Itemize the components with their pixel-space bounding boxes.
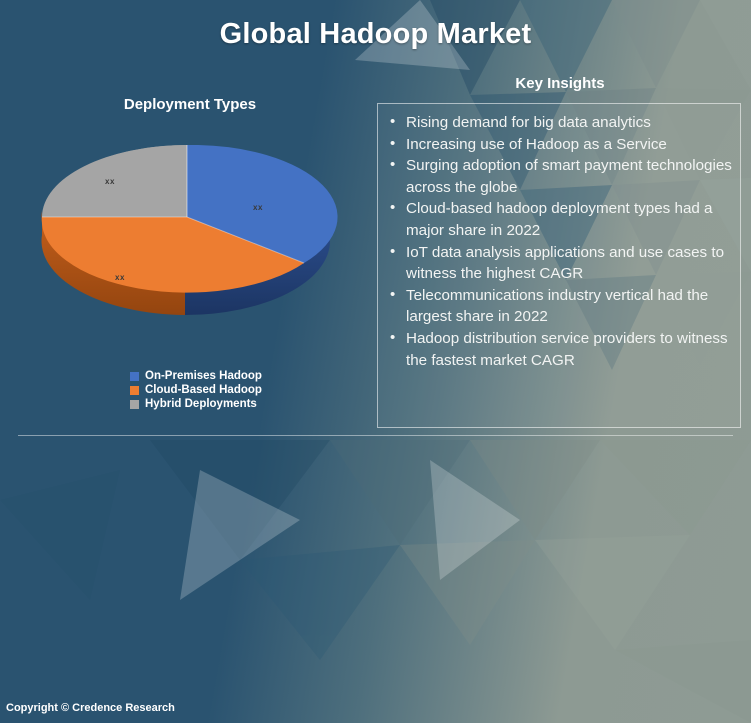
legend-label-hybrid: Hybrid Deployments [145,398,257,410]
key-insight-item: Increasing use of Hadoop as a Service [388,134,732,156]
legend-item-on-premises[interactable]: On-Premises Hadoop [130,370,350,382]
key-insight-item: Surging adoption of smart payment techno… [388,155,732,198]
infographic-canvas: Global Hadoop Market Deployment Types [0,0,751,723]
key-insight-item: Cloud-based hadoop deployment types had … [388,198,732,241]
page-title: Global Hadoop Market [0,18,751,51]
bar-chart: MARKET SIZE USD MN xxxxxxxx36518.5xxxxxx… [0,440,751,723]
legend-item-cloud-based[interactable]: Cloud-Based Hadoop [130,384,350,396]
legend-swatch-icon-on-premises [130,372,139,381]
pie-slice-label-hybrid: xx [105,177,115,186]
key-insight-item: Hadoop distribution service providers to… [388,328,732,371]
key-insights-title: Key Insights [380,75,740,92]
legend-swatch-icon-hybrid [130,400,139,409]
legend-label-cloud-based: Cloud-Based Hadoop [145,384,262,396]
key-insight-item: Telecommunications industry vertical had… [388,285,732,328]
pie-chart-title: Deployment Types [40,96,340,113]
pie-legend: On-Premises Hadoop Cloud-Based Hadoop Hy… [130,370,350,412]
legend-label-on-premises: On-Premises Hadoop [145,370,262,382]
pie-slice-label-on-premises: xx [253,203,263,212]
section-divider [18,435,733,436]
key-insight-item: IoT data analysis applications and use c… [388,242,732,285]
key-insights-panel: Rising demand for big data analytics Inc… [377,103,741,428]
pie-chart-svg [30,145,350,345]
key-insight-item: Rising demand for big data analytics [388,112,732,134]
pie-chart: xx xx xx [30,145,350,345]
key-insights-list: Rising demand for big data analytics Inc… [388,112,732,371]
legend-item-hybrid[interactable]: Hybrid Deployments [130,398,350,410]
copyright-notice: Copyright © Credence Research [6,702,175,714]
pie-slice-label-cloud-based: xx [115,273,125,282]
legend-swatch-icon-cloud-based [130,386,139,395]
